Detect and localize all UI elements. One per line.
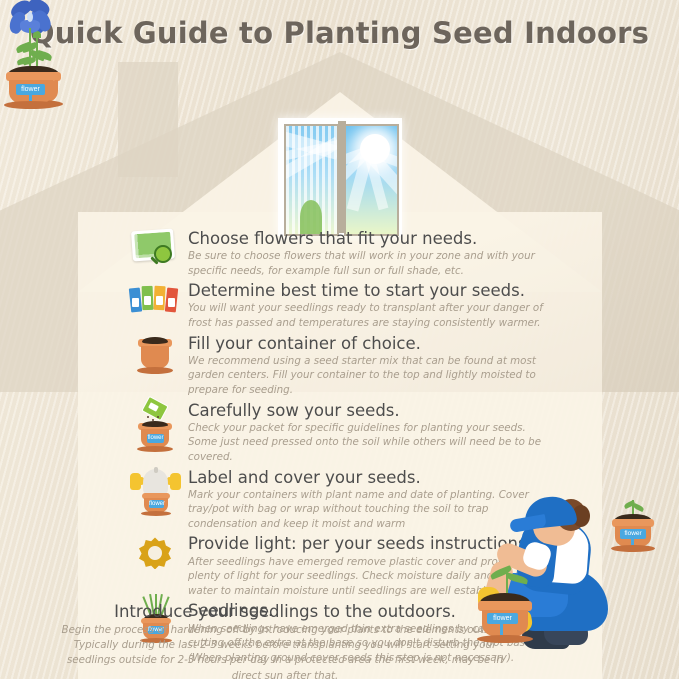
sun-icon bbox=[360, 134, 390, 164]
step-heading: Fill your container of choice. bbox=[188, 333, 550, 354]
step-item: Determine best time to start your seeds.… bbox=[130, 280, 550, 330]
conclusion-body: Begin the process of hardening off by in… bbox=[60, 623, 510, 679]
conclusion-heading: Introduce your seedlings to the outdoors… bbox=[60, 602, 510, 621]
window-pane-left bbox=[284, 124, 339, 236]
step-body: We recommend using a seed starter mix th… bbox=[188, 354, 550, 398]
step-item: flower Carefully sow your seeds. Check y… bbox=[130, 400, 550, 465]
step-body: You will want your seedlings ready to tr… bbox=[188, 301, 550, 330]
infographic-poster: Quick Guide to Planting Seed Indoors bbox=[0, 0, 679, 679]
step-item: Choose flowers that fit your needs. Be s… bbox=[130, 228, 550, 278]
step-heading: Choose flowers that fit your needs. bbox=[188, 228, 550, 249]
step-item: Fill your container of choice. We recomm… bbox=[130, 333, 550, 398]
covered-pot-with-gloves-icon: flower bbox=[130, 467, 184, 515]
conclusion-block: Introduce your seedlings to the outdoors… bbox=[60, 602, 510, 679]
sun-light-icon bbox=[130, 535, 184, 579]
page-title: Quick Guide to Planting Seed Indoors bbox=[0, 16, 679, 50]
step-body: Be sure to choose flowers that will work… bbox=[188, 249, 550, 278]
empty-terracotta-pot-icon bbox=[130, 335, 184, 379]
seed-packet-pouring-into-pot-icon: flower bbox=[130, 400, 184, 450]
pot-tag: flower bbox=[147, 434, 164, 443]
planting-pot: flower bbox=[474, 591, 544, 651]
step-heading: Determine best time to start your seeds. bbox=[188, 280, 550, 301]
window-with-sun-icon bbox=[278, 118, 402, 236]
window-pane-right bbox=[344, 124, 399, 236]
step-body: Check your packet for specific guideline… bbox=[188, 421, 550, 465]
seed-catalog-magnifier-icon bbox=[130, 228, 184, 272]
pot-tag: flower bbox=[149, 500, 164, 508]
step-heading: Carefully sow your seeds. bbox=[188, 400, 550, 421]
seed-packets-icon bbox=[130, 284, 184, 328]
gardener-planting-seedling: flower bbox=[448, 495, 663, 679]
step-heading: Label and cover your seeds. bbox=[188, 467, 550, 488]
